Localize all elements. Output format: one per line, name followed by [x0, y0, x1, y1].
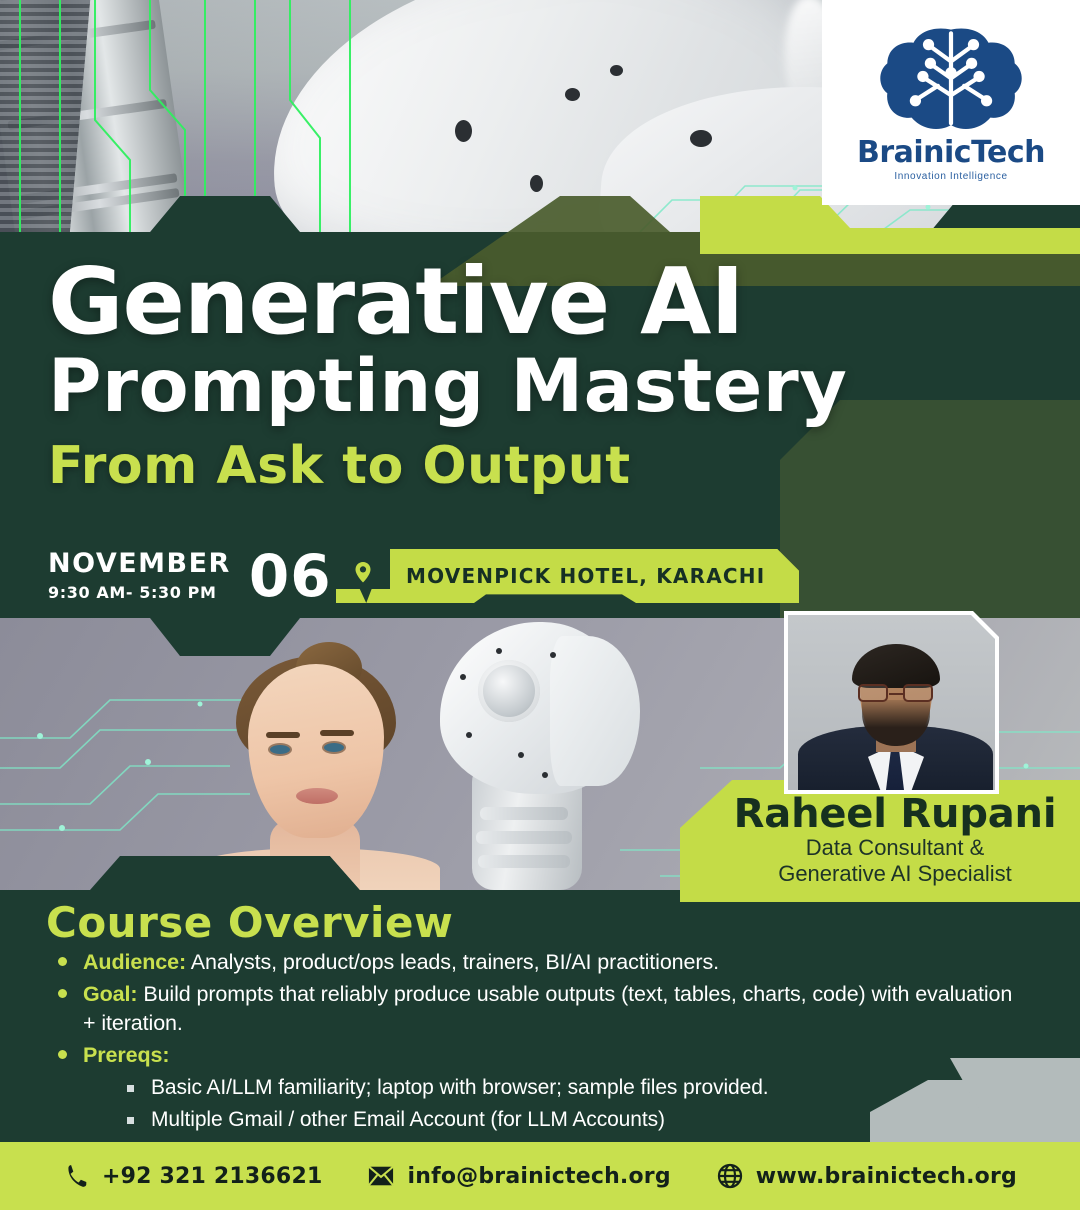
- brain-circuit-icon: [876, 24, 1026, 142]
- overview-label-audience: Audience:: [83, 950, 186, 974]
- bullet-dot-icon: [58, 989, 67, 998]
- robot-port-icon: [690, 130, 712, 147]
- overview-label-prereqs: Prereqs:: [83, 1043, 169, 1067]
- location-pin-icon: [336, 549, 390, 603]
- speaker-role-line-2: Generative AI Specialist: [778, 861, 1012, 887]
- title-line-2: Prompting Mastery: [48, 350, 847, 424]
- website-url: www.brainictech.org: [756, 1164, 1017, 1189]
- prereq-text-2: Multiple Gmail / other Email Account (fo…: [151, 1106, 665, 1135]
- overview-text-audience: Analysts, product/ops leads, trainers, B…: [186, 950, 719, 974]
- robot-portrait: [400, 620, 690, 890]
- woman-portrait: [200, 622, 430, 890]
- brand-logo: BrainicTech Innovation Intelligence: [822, 0, 1080, 205]
- venue-name: MOVENPICK HOTEL, KARACHI: [406, 564, 765, 588]
- robot-port-icon: [610, 65, 623, 76]
- brand-tagline: Innovation Intelligence: [894, 171, 1007, 182]
- course-overview-heading: Course Overview: [46, 898, 453, 947]
- phone-number: +92 321 2136621: [102, 1164, 322, 1189]
- email-address: info@brainictech.org: [407, 1164, 670, 1189]
- title-line-1: Generative AI: [48, 258, 847, 346]
- prereq-item: Multiple Gmail / other Email Account (fo…: [127, 1106, 769, 1135]
- speaker-name-card: Raheel Rupani Data Consultant & Generati…: [680, 780, 1080, 902]
- robot-port-icon: [530, 175, 543, 192]
- event-venue-badge: MOVENPICK HOTEL, KARACHI: [336, 549, 799, 603]
- prereq-item: Basic AI/LLM familiarity; laptop with br…: [127, 1074, 769, 1103]
- phone-icon: [63, 1163, 89, 1189]
- envelope-icon: [368, 1163, 394, 1189]
- overview-item-goal: Goal: Build prompts that reliably produc…: [46, 980, 1026, 1037]
- overview-label-goal: Goal:: [83, 982, 137, 1006]
- contact-email[interactable]: info@brainictech.org: [368, 1163, 670, 1189]
- event-time: 9:30 AM- 5:30 PM: [48, 583, 231, 602]
- contact-phone[interactable]: +92 321 2136621: [63, 1163, 322, 1189]
- title-subtitle: From Ask to Output: [48, 439, 847, 494]
- robot-port-icon: [455, 120, 472, 142]
- prereq-text-1: Basic AI/LLM familiarity; laptop with br…: [151, 1074, 769, 1103]
- event-date-block: NOVEMBER 9:30 AM- 5:30 PM 06: [48, 545, 332, 607]
- contact-website[interactable]: www.brainictech.org: [717, 1163, 1017, 1189]
- speaker-photo: [784, 611, 999, 794]
- overview-item-audience: Audience: Analysts, product/ops leads, t…: [46, 948, 1026, 976]
- bullet-dot-icon: [58, 1050, 67, 1059]
- event-poster: BrainicTech Innovation Intelligence Gene…: [0, 0, 1080, 1210]
- bullet-square-icon: [127, 1117, 134, 1124]
- globe-icon: [717, 1163, 743, 1189]
- bullet-square-icon: [127, 1085, 134, 1092]
- speaker-role-line-1: Data Consultant &: [806, 835, 985, 861]
- overview-text-goal: Build prompts that reliably produce usab…: [83, 982, 1012, 1034]
- event-day: 06: [249, 547, 332, 605]
- contact-footer: +92 321 2136621 info@brainictech.org www…: [0, 1142, 1080, 1210]
- robot-port-icon: [565, 88, 580, 101]
- event-month: NOVEMBER: [48, 550, 231, 577]
- bullet-dot-icon: [58, 957, 67, 966]
- poster-title: Generative AI Prompting Mastery From Ask…: [48, 258, 847, 493]
- speaker-name: Raheel Rupani: [734, 793, 1057, 835]
- brand-name: BrainicTech: [857, 138, 1045, 168]
